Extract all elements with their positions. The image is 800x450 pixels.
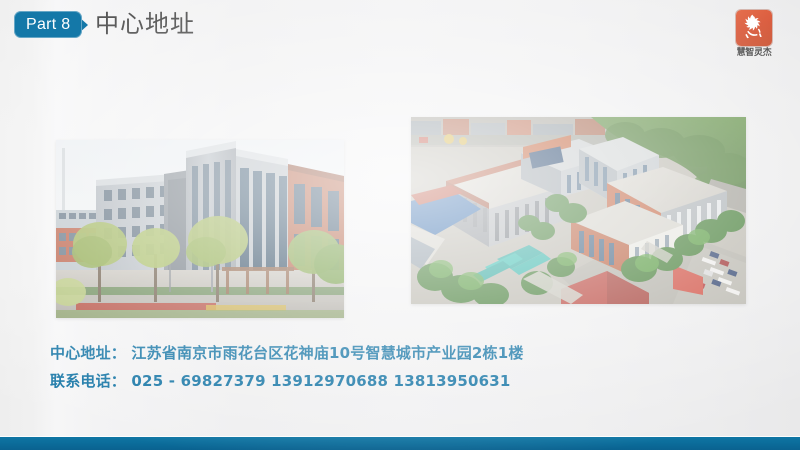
photo-office-building <box>56 140 344 318</box>
company-logo-text: 慧智灵杰 <box>722 48 786 59</box>
part-badge-label: Part 8 <box>26 17 71 33</box>
part-badge: Part 8 <box>14 11 82 38</box>
address-block: 中心地址： 江苏省南京市雨花台区花神庙10号智慧城市产业园2栋1楼 联系电话： … <box>50 339 524 395</box>
footer-bar <box>0 437 800 450</box>
slide-canvas: Part 8 中心地址 慧智灵杰 <box>0 0 800 450</box>
slide-header: Part 8 中心地址 慧智灵杰 <box>0 0 800 60</box>
address-line: 中心地址： 江苏省南京市雨花台区花神庙10号智慧城市产业园2栋1楼 <box>50 339 524 367</box>
phone-line: 联系电话： 025 - 69827379 13912970688 1381395… <box>50 367 524 395</box>
company-logo: 慧智灵杰 <box>722 10 786 62</box>
page-title: 中心地址 <box>95 8 195 40</box>
company-emblem-icon <box>736 10 772 46</box>
photo-aerial-campus <box>411 117 746 304</box>
